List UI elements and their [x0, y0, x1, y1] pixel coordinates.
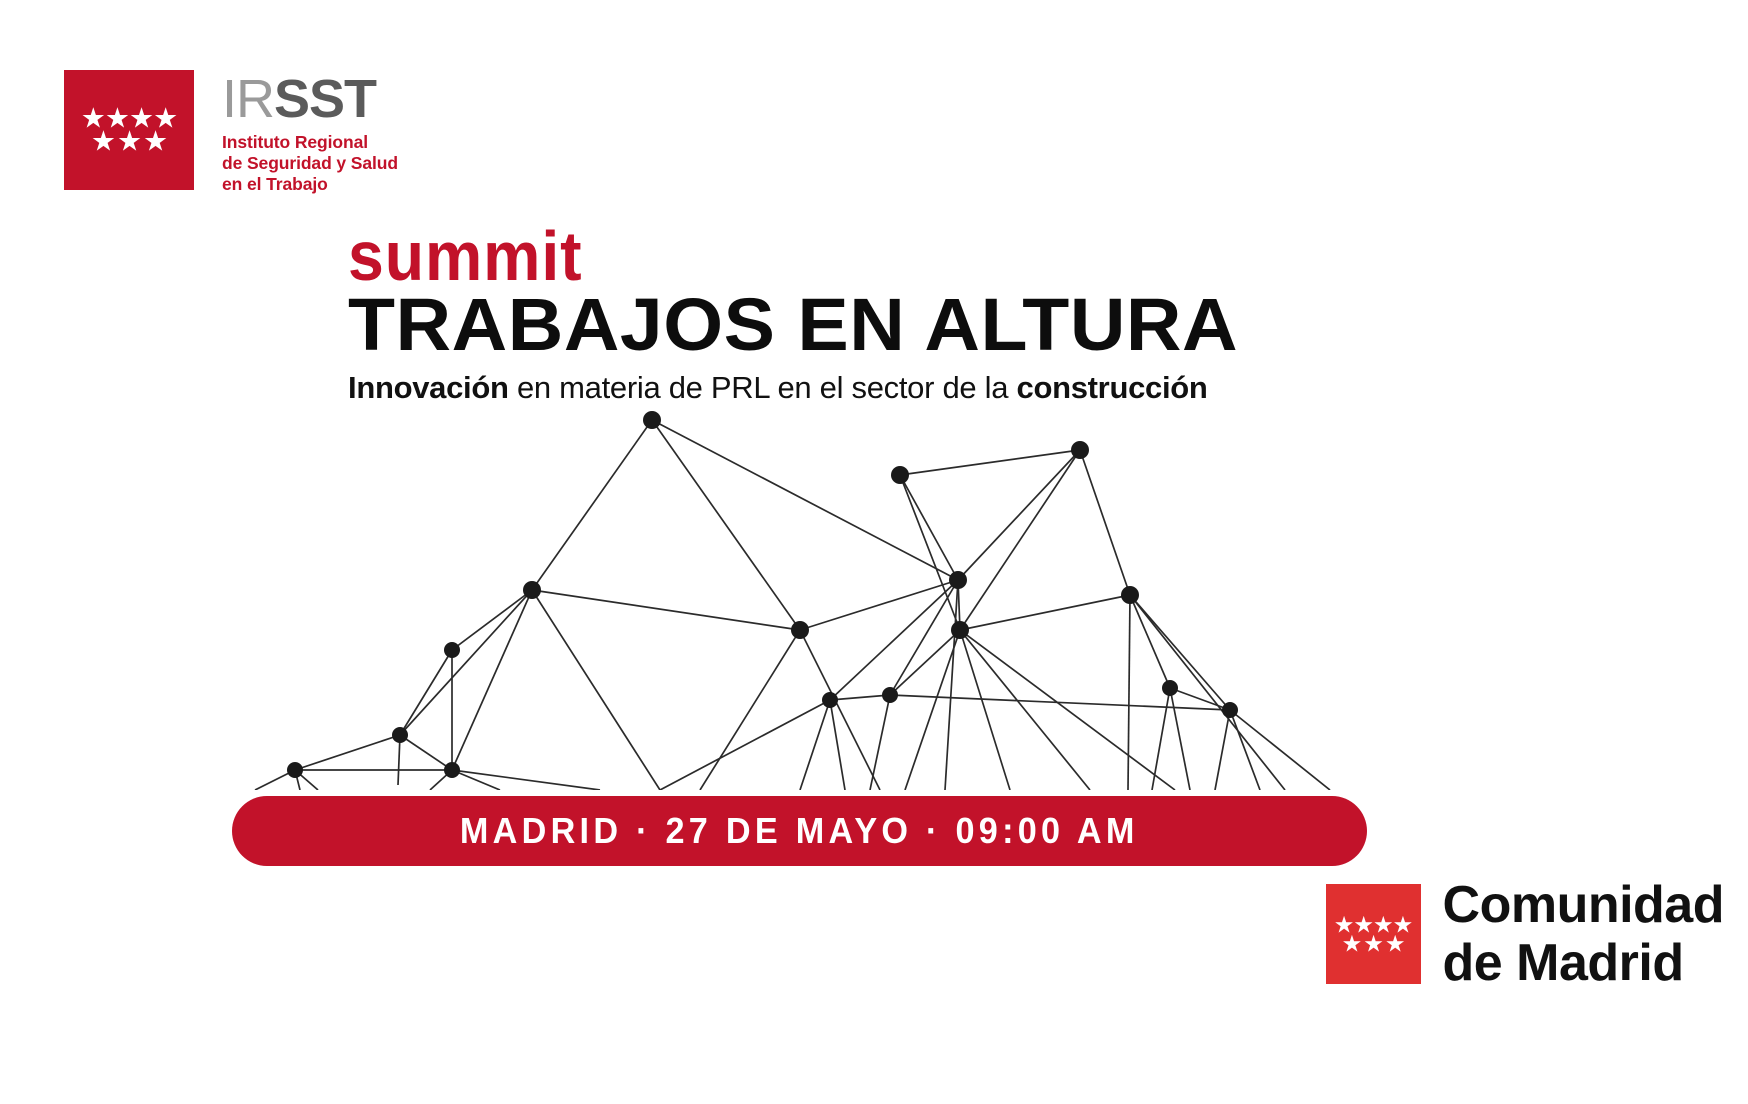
star-icon: ★ [1342, 935, 1362, 953]
star-icon: ★ [143, 131, 167, 153]
irsst-text-block: IRSST Instituto Regional de Seguridad y … [222, 70, 398, 195]
irsst-wordmark: IRSST [222, 72, 398, 126]
event-date-banner: MADRID · 27 DE MAYO · 09:00 AM [232, 796, 1367, 866]
irsst-tagline-line-1: Instituto Regional [222, 132, 398, 153]
subtitle-emphasis-start: Innovación [348, 370, 509, 405]
madrid-stars-icon: ★ ★ ★ ★ ★ ★ ★ [64, 108, 194, 153]
irsst-flag-icon: ★ ★ ★ ★ ★ ★ ★ [64, 70, 194, 190]
comunidad-flag-icon: ★ ★ ★ ★ ★ ★ ★ [1326, 884, 1421, 984]
comunidad-wordmark-line-1: Comunidad [1443, 876, 1724, 934]
irsst-wordmark-bold: SST [274, 69, 376, 129]
event-subtitle: Innovación en materia de PRL en el secto… [348, 370, 1348, 406]
subtitle-middle: en materia de PRL en el sector de la [509, 370, 1017, 405]
star-icon: ★ [117, 131, 141, 153]
star-icon: ★ [1363, 935, 1383, 953]
star-icon: ★ [1385, 935, 1405, 953]
network-mountain-graphic [0, 390, 1748, 790]
comunidad-wordmark: Comunidad de Madrid [1443, 876, 1724, 992]
irsst-tagline-line-2: de Seguridad y Salud [222, 153, 398, 174]
irsst-tagline-line-3: en el Trabajo [222, 174, 398, 195]
irsst-wordmark-light: IR [222, 69, 274, 129]
comunidad-wordmark-line-2: de Madrid [1443, 934, 1724, 992]
irsst-logo: ★ ★ ★ ★ ★ ★ ★ IRSST Instituto Regional d… [64, 70, 398, 195]
page-title: TRABAJOS EN ALTURA [348, 286, 1388, 364]
event-eyebrow: summit [348, 222, 1268, 290]
madrid-stars-icon: ★ ★ ★ ★ ★ ★ ★ [1326, 916, 1421, 953]
poster-canvas: ★ ★ ★ ★ ★ ★ ★ IRSST Instituto Regional d… [0, 0, 1748, 1104]
event-date-text: MADRID · 27 DE MAYO · 09:00 AM [460, 810, 1139, 852]
star-row-bottom: ★ ★ ★ [90, 131, 168, 153]
irsst-tagline: Instituto Regional de Seguridad y Salud … [222, 132, 398, 195]
subtitle-emphasis-end: construcción [1017, 370, 1208, 405]
network-nodes [287, 411, 1238, 778]
headline-block: summit TRABAJOS EN ALTURA Innovación en … [348, 222, 1348, 406]
comunidad-de-madrid-logo: ★ ★ ★ ★ ★ ★ ★ Comunidad de Madrid [1326, 876, 1724, 992]
star-icon: ★ [91, 131, 115, 153]
star-row-bottom: ★ ★ ★ [1341, 935, 1406, 953]
